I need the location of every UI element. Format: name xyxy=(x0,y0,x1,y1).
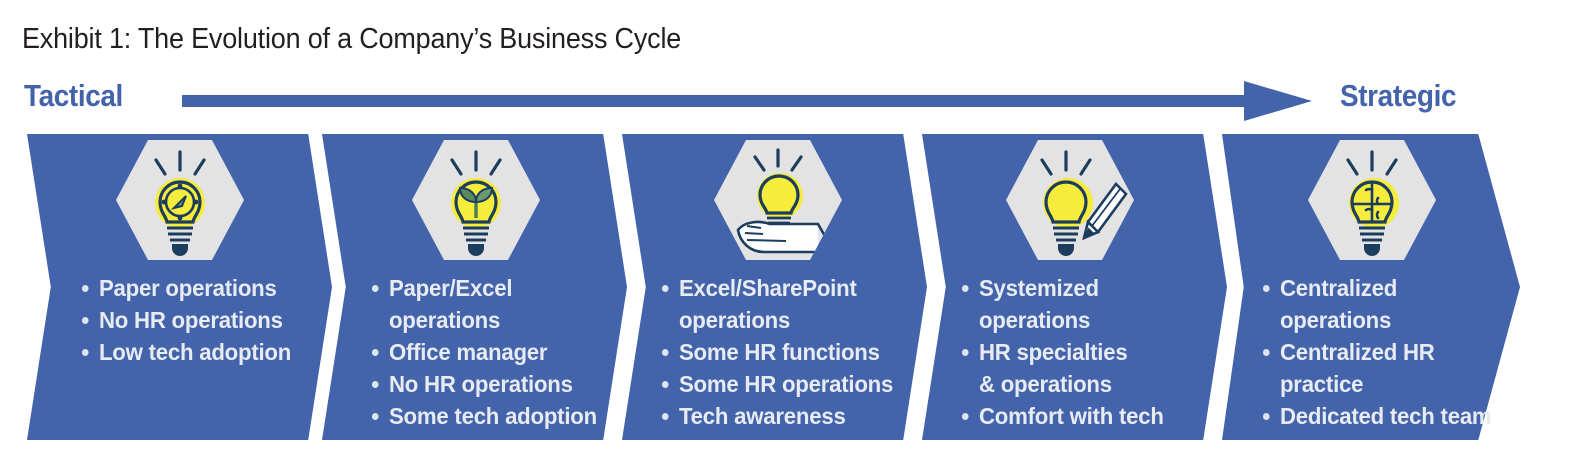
list-item: Low tech adoption xyxy=(81,336,294,368)
stage-bullets-1: Paper operations No HR operations Low te… xyxy=(81,272,306,368)
list-item: Comfort with tech xyxy=(961,400,1203,432)
list-item: Some tech adoption xyxy=(371,400,615,432)
lightbulb-pencil-icon xyxy=(1006,140,1134,260)
stage-bullets-3: Excel/SharePoint operations Some HR func… xyxy=(661,272,911,432)
list-item: Office manager xyxy=(371,336,615,368)
list-item: Centralized HR practice xyxy=(1262,336,1510,400)
lightbulb-sprout-icon xyxy=(412,140,540,260)
list-item: Paper/Excel operations xyxy=(371,272,615,336)
stage-bullets-4: Systemized operations HR specialties & o… xyxy=(961,272,1217,432)
page-title: Exhibit 1: The Evolution of a Company’s … xyxy=(22,22,681,56)
tactical-strategic-axis: Tactical Strategic xyxy=(0,78,1594,124)
list-item: Some HR operations xyxy=(661,368,897,400)
list-item: Systemized operations xyxy=(961,272,1203,336)
stage-icon-2 xyxy=(412,140,540,260)
stage-bullets-2: Paper/Excel operations Office manager No… xyxy=(371,272,629,432)
list-item: Tech awareness xyxy=(661,400,897,432)
lightbulb-puzzle-icon xyxy=(1308,140,1436,260)
stage-chevron-band: Paper operations No HR operations Low te… xyxy=(0,134,1594,440)
stage-icon-5 xyxy=(1308,140,1436,260)
stage-icon-4 xyxy=(1006,140,1134,260)
list-item: Dedicated tech team xyxy=(1262,400,1510,432)
list-item: No HR operations xyxy=(371,368,615,400)
stage-bullets-5: Centralized operations Centralized HR pr… xyxy=(1262,272,1524,432)
list-item: Excel/SharePoint operations xyxy=(661,272,897,336)
list-item: HR specialties & operations xyxy=(961,336,1203,400)
axis-label-strategic: Strategic xyxy=(1340,78,1456,114)
stage-icon-3 xyxy=(714,140,842,260)
list-item: Some HR functions xyxy=(661,336,897,368)
lightbulb-in-hand-icon xyxy=(714,140,842,260)
lightbulb-compass-icon xyxy=(116,140,244,260)
list-item: Centralized operations xyxy=(1262,272,1510,336)
progression-arrow-icon xyxy=(182,78,1312,124)
list-item: No HR operations xyxy=(81,304,294,336)
list-item: Paper operations xyxy=(81,272,294,304)
axis-label-tactical: Tactical xyxy=(24,78,123,114)
exhibit-infographic: Exhibit 1: The Evolution of a Company’s … xyxy=(0,0,1594,476)
stage-icon-1 xyxy=(116,140,244,260)
